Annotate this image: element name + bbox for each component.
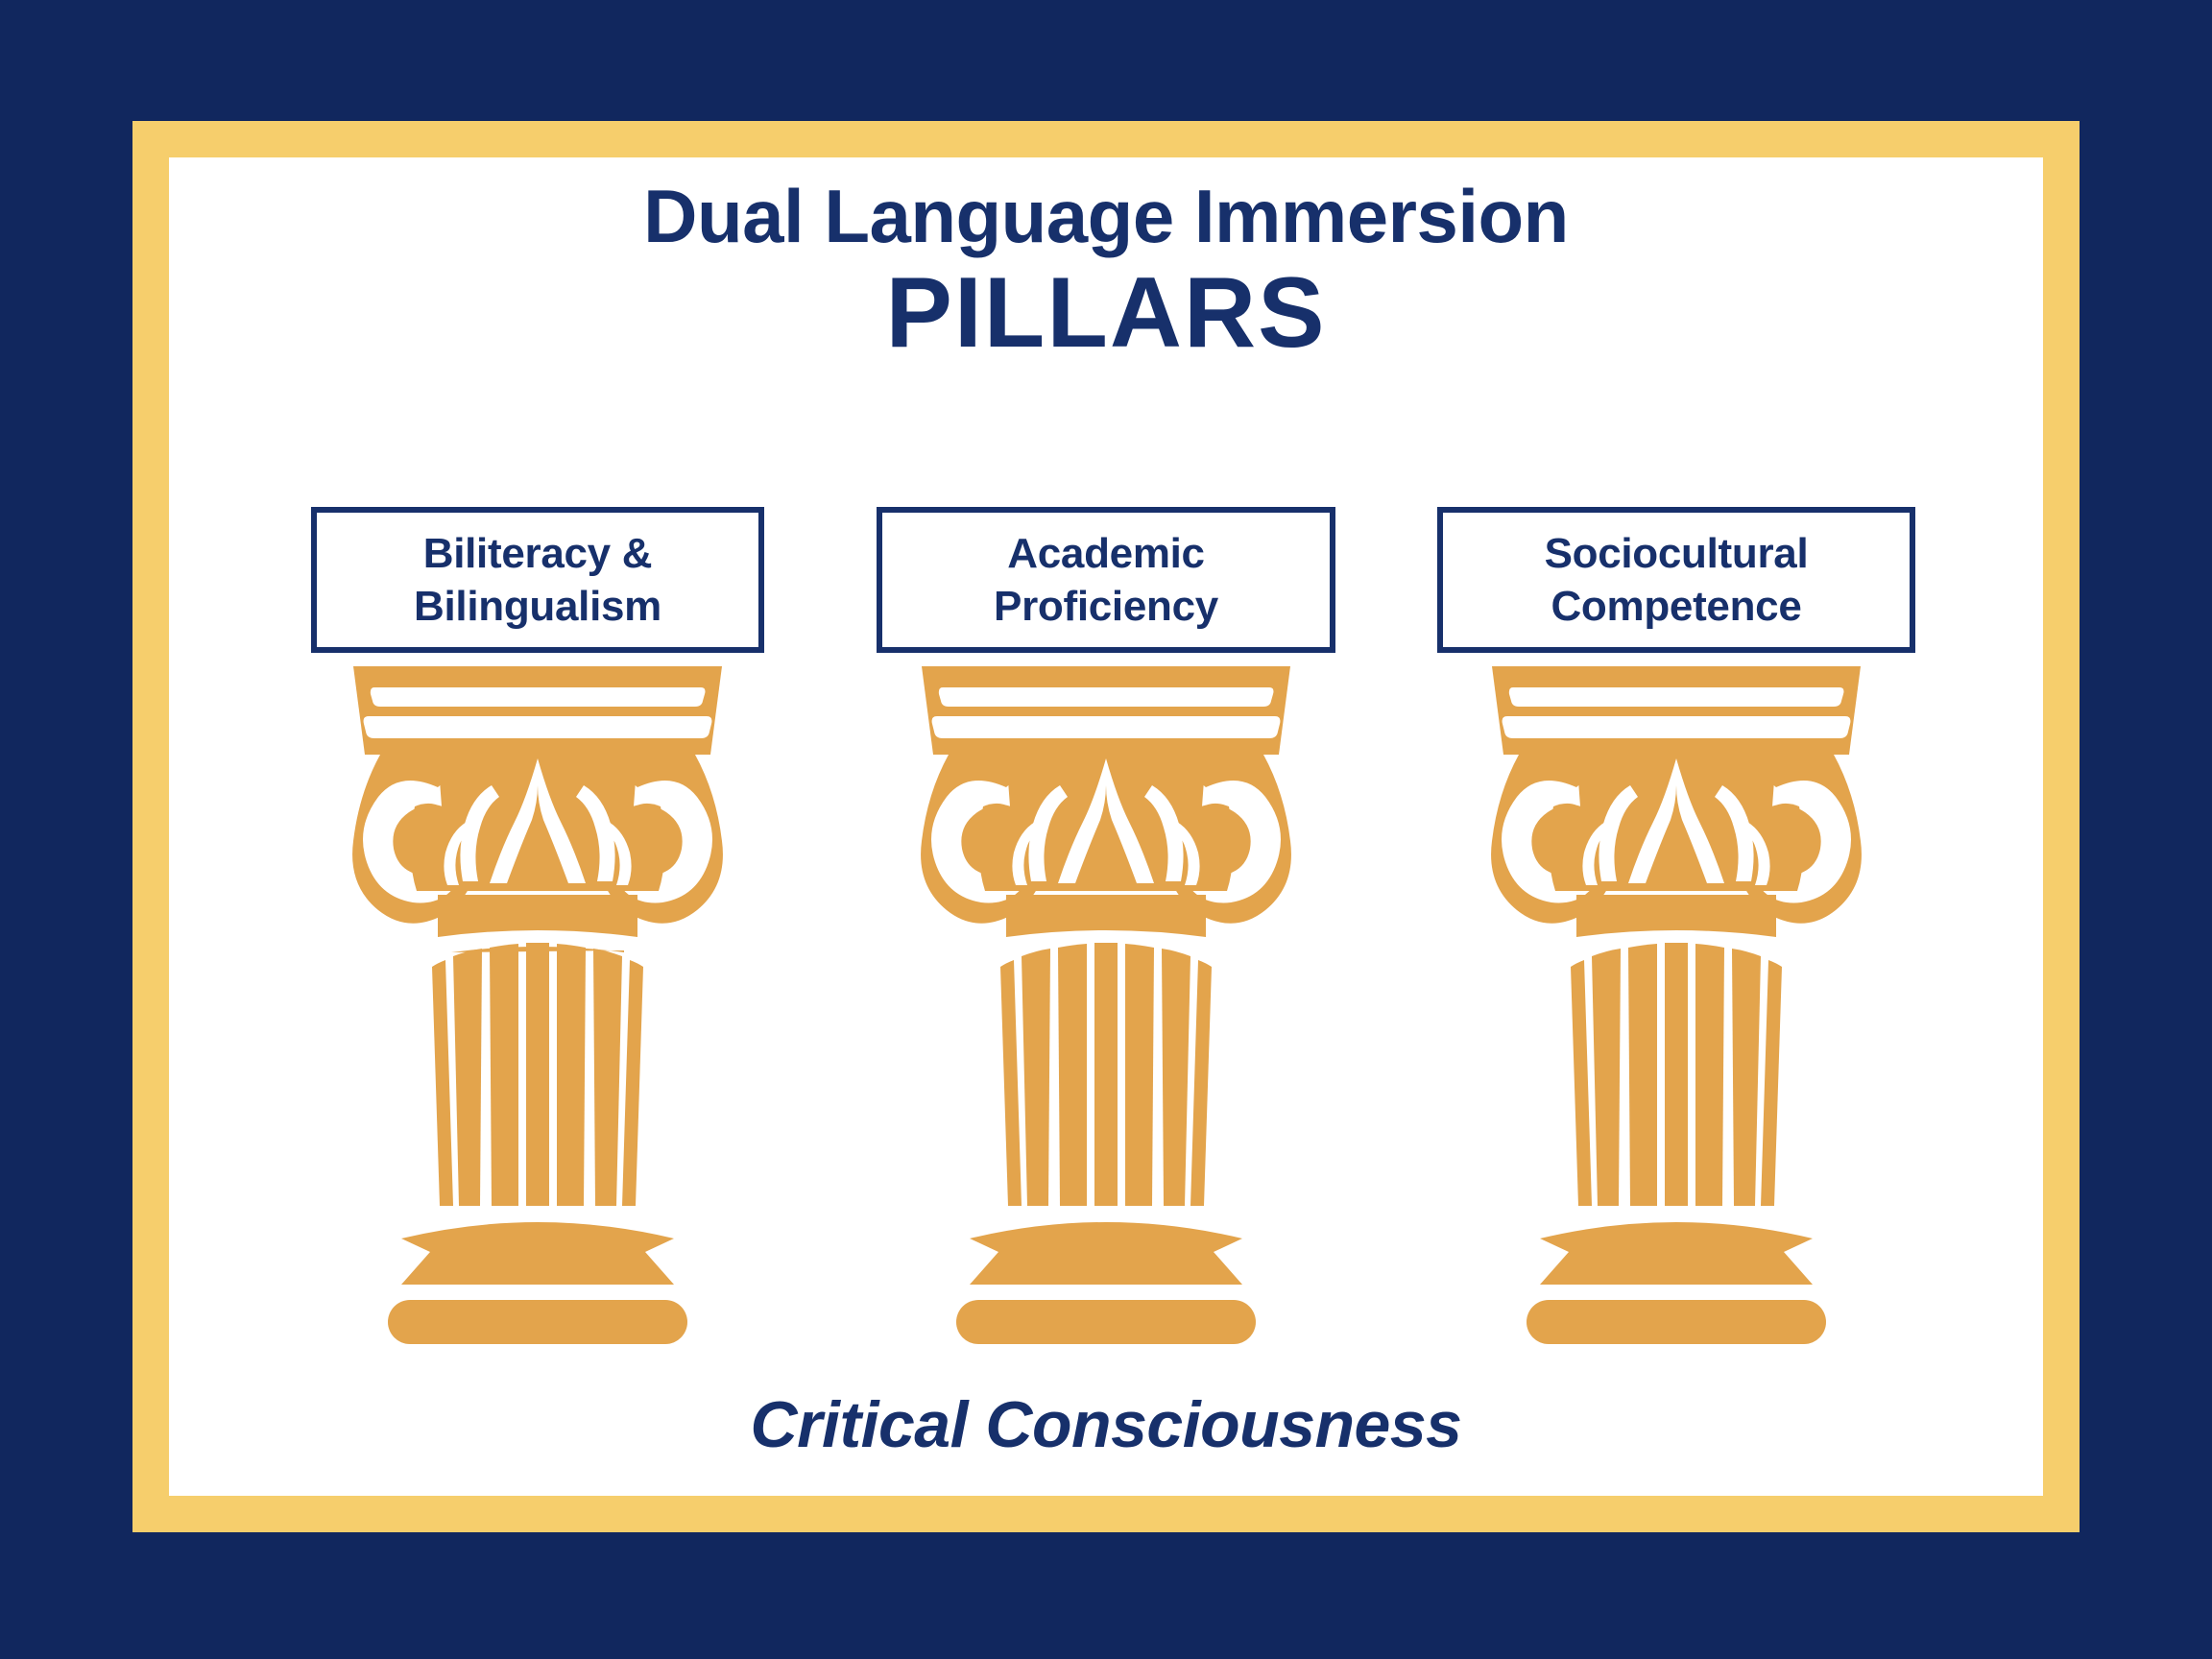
pillar-label-box: Biliteracy & Bilingualism	[311, 507, 764, 653]
pillar-item: Academic Proficiency	[866, 480, 1346, 1373]
pillar-label-box: Academic Proficiency	[877, 507, 1335, 653]
pillars-group: Biliteracy & Bilingualism	[169, 480, 2043, 1373]
pillar-label-box: Sociocultural Competence	[1437, 507, 1915, 653]
pillar-item: Biliteracy & Bilingualism	[298, 480, 778, 1373]
ionic-column-icon	[346, 662, 730, 1373]
poster-canvas: Dual Language Immersion PILLARS Bilitera…	[0, 0, 2212, 1659]
title-line-1: Dual Language Immersion	[169, 179, 2043, 253]
pillar-label-text: Academic Proficiency	[994, 527, 1218, 634]
pillar-label-text: Biliteracy & Bilingualism	[414, 527, 661, 634]
footer-caption: Critical Consciousness	[169, 1387, 2043, 1462]
page-title: Dual Language Immersion PILLARS	[169, 179, 2043, 367]
ionic-column-icon	[914, 662, 1298, 1373]
pillar-label-text: Sociocultural Competence	[1545, 527, 1809, 634]
ionic-column-icon	[1484, 662, 1868, 1373]
pillar-item: Sociocultural Competence	[1436, 480, 1916, 1373]
title-line-2: PILLARS	[169, 259, 2043, 367]
